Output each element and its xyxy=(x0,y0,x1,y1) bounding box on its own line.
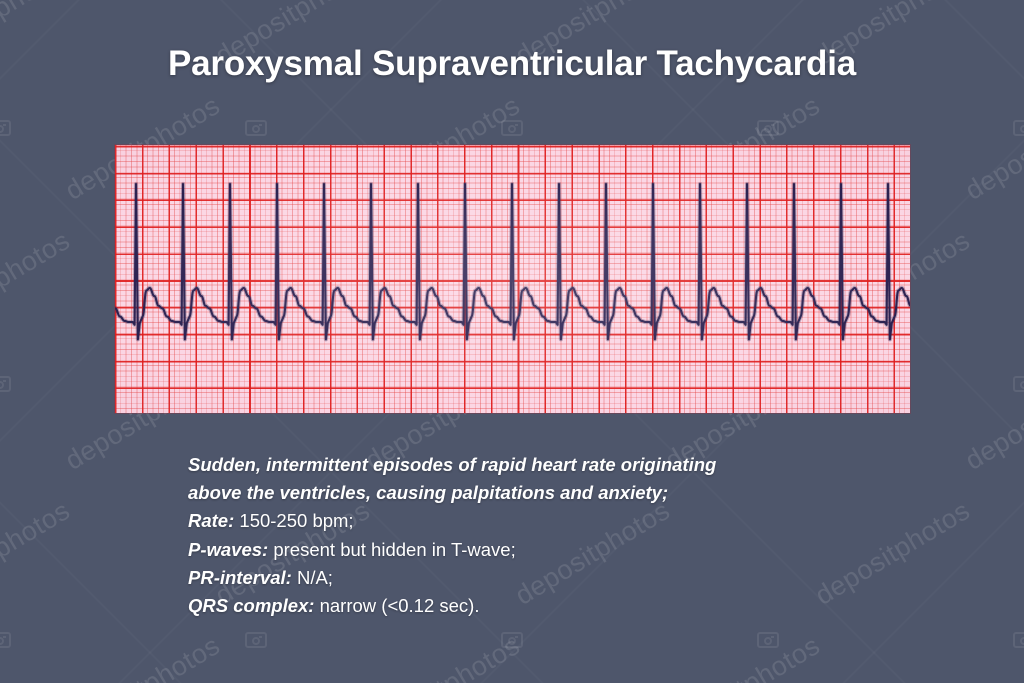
camera-icon xyxy=(757,120,779,136)
caption-block: Sudden, intermittent episodes of rapid h… xyxy=(188,451,908,620)
watermark-text: depositphotos xyxy=(0,225,76,342)
illustration-canvas: depositphotosdepositphotosdepositphotosd… xyxy=(0,0,1024,683)
caption-row-label: PR-interval: xyxy=(188,567,292,588)
watermark-text: depositphotos xyxy=(960,360,1024,477)
watermark-text: depositphotos xyxy=(60,630,226,683)
camera-icon xyxy=(1013,120,1024,136)
caption-row: Rate: 150-250 bpm; xyxy=(188,507,908,535)
ecg-waveform-trace xyxy=(115,145,910,413)
caption-row-value: 150-250 bpm; xyxy=(234,510,353,531)
caption-row-value: present but hidden in T-wave; xyxy=(268,539,516,560)
watermark-text: depositphotos xyxy=(360,630,526,683)
watermark-text: depositphotos xyxy=(660,630,826,683)
camera-icon xyxy=(0,376,11,392)
caption-row-value: N/A; xyxy=(292,567,333,588)
camera-icon xyxy=(245,632,267,648)
camera-icon xyxy=(1013,632,1024,648)
camera-icon xyxy=(0,120,11,136)
camera-icon xyxy=(501,632,523,648)
caption-row-label: P-waves: xyxy=(188,539,268,560)
watermark-text: depositphotos xyxy=(960,630,1024,683)
caption-row: P-waves: present but hidden in T-wave; xyxy=(188,536,908,564)
camera-icon xyxy=(245,120,267,136)
page-title: Paroxysmal Supraventricular Tachycardia xyxy=(0,44,1024,84)
caption-row-value: narrow (<0.12 sec). xyxy=(314,595,479,616)
camera-icon xyxy=(757,632,779,648)
caption-row: PR-interval: N/A; xyxy=(188,564,908,592)
caption-row-label: Rate: xyxy=(188,510,234,531)
watermark-text: depositphotos xyxy=(960,90,1024,207)
caption-row-label: QRS complex: xyxy=(188,595,314,616)
caption-lead-line-2: above the ventricles, causing palpitatio… xyxy=(188,479,908,507)
camera-icon xyxy=(1013,376,1024,392)
caption-row: QRS complex: narrow (<0.12 sec). xyxy=(188,592,908,620)
camera-icon xyxy=(501,120,523,136)
watermark-text: depositphotos xyxy=(0,495,76,612)
ecg-strip-panel xyxy=(115,145,910,413)
caption-detail-rows: Rate: 150-250 bpm;P-waves: present but h… xyxy=(188,507,908,620)
caption-lead-line-1: Sudden, intermittent episodes of rapid h… xyxy=(188,451,908,479)
camera-icon xyxy=(0,632,11,648)
